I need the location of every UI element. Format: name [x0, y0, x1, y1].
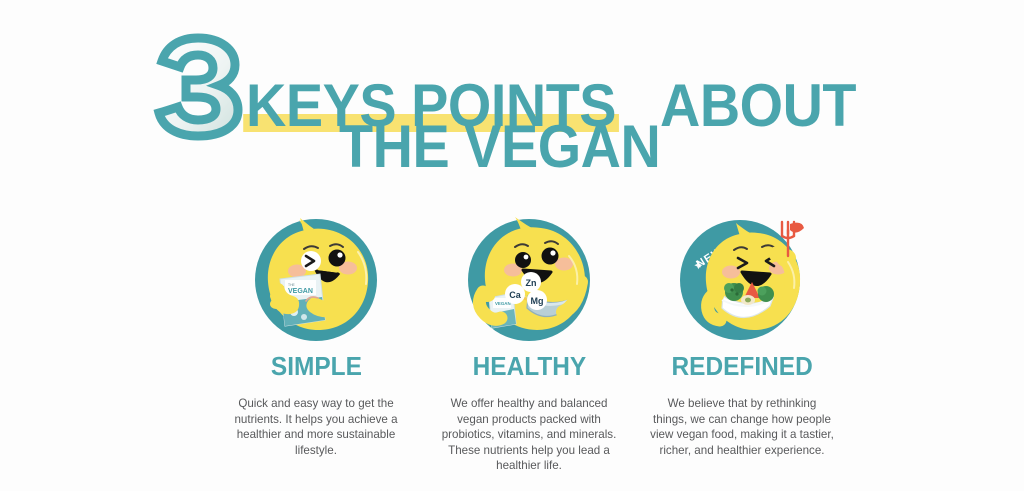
feature-card-healthy: VEGAN Ca Zn Mg [432, 216, 626, 474]
card-title-simple: SIMPLE [270, 353, 361, 379]
card-body-simple: Quick and easy way to get the nutrients.… [223, 396, 409, 458]
feature-card-redefined: NEW [645, 216, 839, 474]
illustration-character-holding-vegan-package: THE VEGAN [252, 216, 380, 344]
page-title: KEYS POINTS ABOUT THE VEGAN [0, 32, 1024, 179]
feature-card-simple: THE VEGAN SIMPLE Quick and easy way to g… [219, 216, 413, 474]
svg-text:VEGAN: VEGAN [495, 301, 511, 306]
card-body-healthy: We offer healthy and balanced vegan prod… [436, 396, 622, 474]
illustration-character-eating-salad-with-fork: NEW [678, 216, 806, 344]
page-title-line-1: KEYS POINTS ABOUT [0, 32, 1024, 106]
card-title-redefined: REDEFINED [671, 353, 812, 379]
svg-text:THE: THE [288, 283, 296, 287]
card-body-redefined: We believe that by rethinking things, we… [649, 396, 835, 458]
feature-cards: THE VEGAN SIMPLE Quick and easy way to g… [219, 216, 839, 474]
mineral-badge-zn: Zn [526, 278, 537, 288]
mineral-badge-ca: Ca [509, 290, 521, 300]
page-title-plain-words: ABOUT [660, 76, 856, 136]
mineral-badge-mg: Mg [531, 296, 544, 306]
illustration-character-pouring-minerals-into-bowl: VEGAN Ca Zn Mg [465, 216, 593, 344]
big-number-three [153, 32, 239, 140]
card-title-healthy: HEALTHY [472, 353, 586, 379]
page-title-line-2-text: THE VEGAN [339, 117, 660, 177]
svg-text:VEGAN: VEGAN [288, 288, 313, 295]
